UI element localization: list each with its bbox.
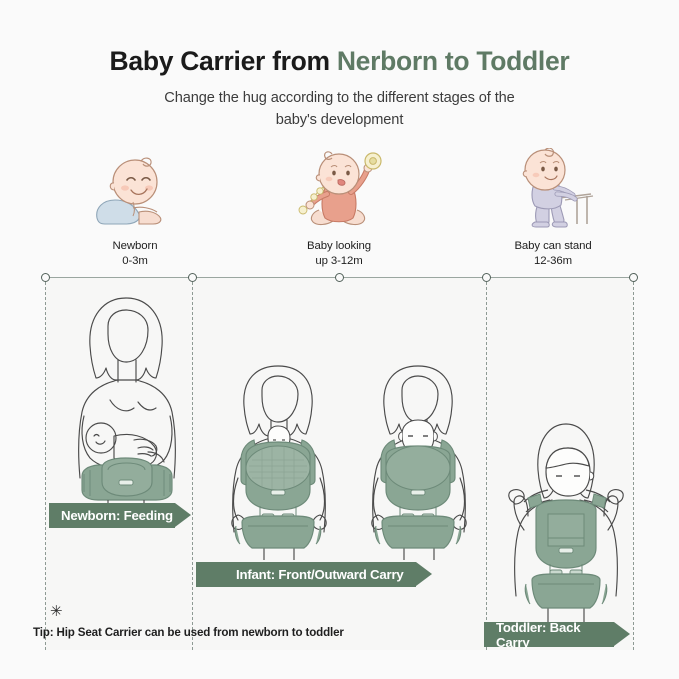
subtitle-line-2: baby's development: [0, 109, 679, 131]
stage-baby-can-stand-label-line1: Baby can stand: [458, 239, 648, 254]
stage-newborn-label: Newborn 0-3m: [40, 239, 230, 268]
subtitle-line-1: Change the hug according to the differen…: [0, 87, 679, 109]
banner-newborn-feeding[interactable]: Newborn: Feeding: [49, 503, 175, 528]
stage-newborn-label-line2: 0-3m: [40, 254, 230, 269]
stage-baby-can-stand: Baby can stand 12-36m: [458, 152, 648, 268]
banner-infant-label: Infant: Front/Outward Carry: [236, 567, 404, 582]
baby-lying-icon: [40, 152, 230, 230]
page-title: Baby Carrier from Nerborn to Toddler: [0, 44, 679, 78]
banner-toddler-back-carry[interactable]: Toddler: Back Carry: [484, 622, 614, 647]
banner-arrow-tip-icon: [175, 503, 191, 527]
divider-dash-2: [192, 282, 193, 650]
tip-text: Tip: Hip Seat Carrier can be used from n…: [33, 626, 344, 639]
page-subtitle: Change the hug according to the differen…: [0, 87, 679, 131]
title-plain-text: Baby Carrier from: [110, 46, 337, 76]
stage-newborn-label-line1: Newborn: [40, 239, 230, 254]
timeline-tick-2: [188, 273, 197, 282]
baby-sitting-rattle-icon: [244, 152, 434, 230]
banner-arrow-tip-icon: [614, 622, 630, 646]
divider-dash-3: [486, 282, 487, 650]
timeline-tick-1: [41, 273, 50, 282]
banner-newborn-feeding-label: Newborn: Feeding: [61, 508, 173, 523]
baby-carrier-infographic: Baby Carrier from Nerborn to Toddler Cha…: [0, 0, 679, 679]
stage-baby-looking-up-label: Baby looking up 3-12m: [244, 239, 434, 268]
timeline-tick-3: [335, 273, 344, 282]
title-accent-text: Nerborn to Toddler: [337, 46, 570, 76]
divider-dash-1: [45, 282, 46, 650]
mother-back-carry-figure: [500, 418, 630, 623]
stage-baby-looking-up-label-line2: up 3-12m: [244, 254, 434, 269]
banner-infant-front-outward-carry[interactable]: Infant: Front/Outward Carry: [196, 562, 416, 587]
stage-baby-can-stand-label: Baby can stand 12-36m: [458, 239, 648, 268]
header: Baby Carrier from Nerborn to Toddler Cha…: [0, 44, 679, 131]
banner-arrow-tip-icon: [416, 562, 432, 586]
stage-baby-looking-up-label-line1: Baby looking: [244, 239, 434, 254]
divider-dash-4: [633, 282, 634, 650]
tip-asterisk-icon: ✳: [50, 604, 63, 619]
baby-standing-icon: [458, 152, 648, 230]
mother-holding-newborn-figure: [60, 290, 192, 520]
stage-newborn: Newborn 0-3m: [40, 152, 230, 268]
stage-baby-can-stand-label-line2: 12-36m: [458, 254, 648, 269]
timeline-tick-5: [629, 273, 638, 282]
banner-toddler-label: Toddler: Back Carry: [496, 620, 614, 650]
mother-front-carry-figure: [212, 360, 344, 560]
mother-outward-carry-figure: [352, 360, 484, 560]
timeline-tick-4: [482, 273, 491, 282]
stage-baby-looking-up: Baby looking up 3-12m: [244, 152, 434, 268]
